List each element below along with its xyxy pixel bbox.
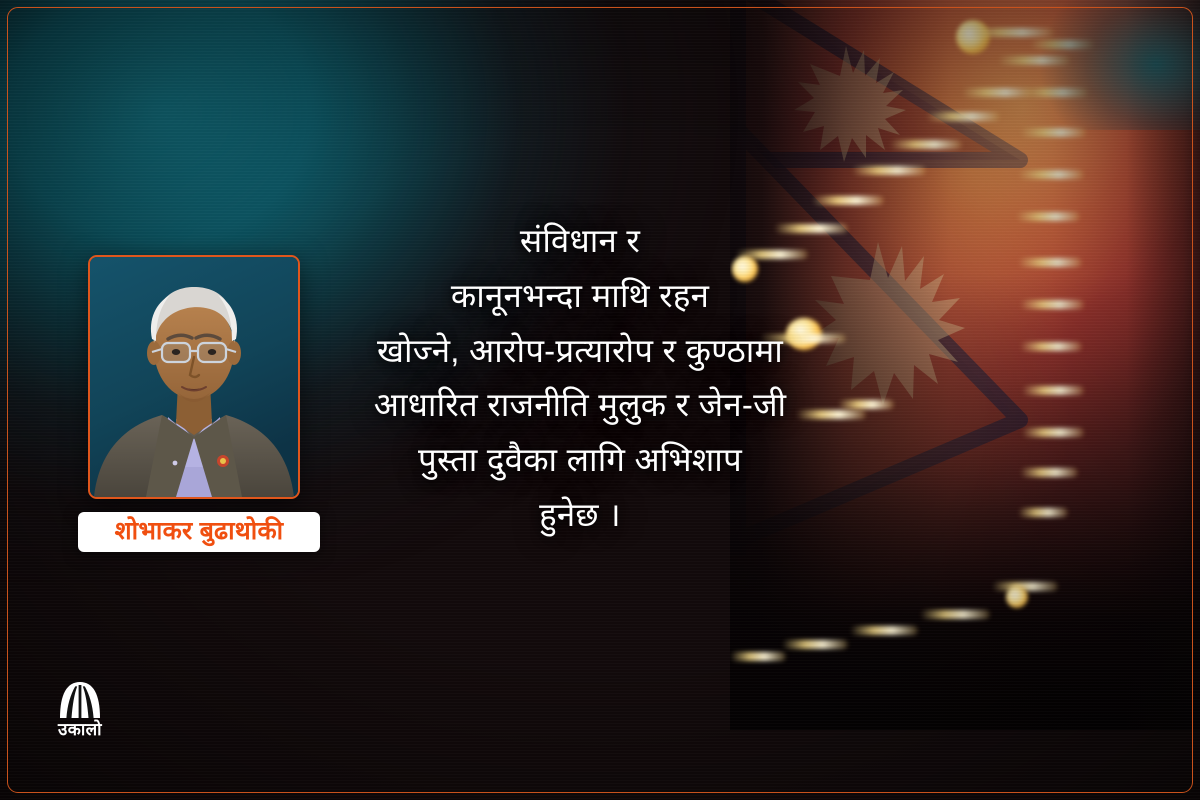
quote-text: संविधान र कानूनभन्दा माथि रहन खोज्ने, आर… [300, 214, 860, 543]
quote-line-6: हुनेछ । [300, 488, 860, 543]
speaker-name-badge: शोभाकर बुढाथोकी [78, 512, 320, 552]
portrait-illustration [90, 257, 298, 497]
quote-line-5: पुस्ता दुवैका लागि अभिशाप [300, 433, 860, 488]
quote-line-1: संविधान र [300, 214, 860, 269]
ukaalo-road-mark [57, 678, 103, 718]
quote-line-2: कानूनभन्दा माथि रहन [300, 269, 860, 324]
quote-line-3: खोज्ने, आरोप-प्रत्यारोप र कुण्ठामा [300, 324, 860, 379]
quote-line-4: आधारित राजनीति मुलुक र जेन-जी [300, 378, 860, 433]
ukaalo-logo[interactable]: उकालो [46, 678, 114, 738]
ukaalo-wordmark: उकालो [46, 721, 114, 738]
quote-card: शोभाकर बुढाथोकी संविधान र कानूनभन्दा माथ… [0, 0, 1200, 800]
portrait-photo [88, 255, 300, 499]
corner-teal-glow [1000, 0, 1200, 130]
speaker-name: शोभाकर बुढाथोकी [92, 517, 306, 545]
